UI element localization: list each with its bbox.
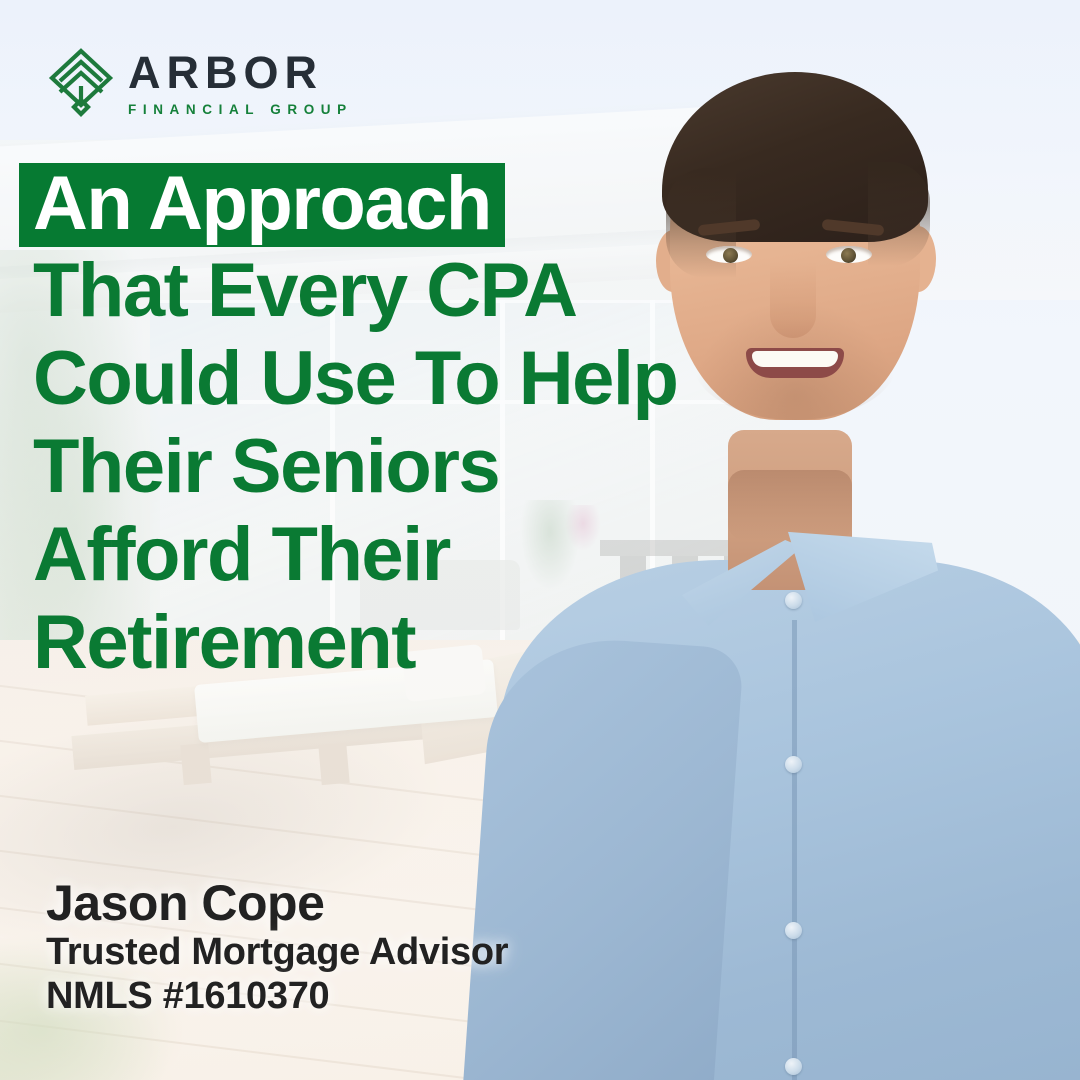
headline-line-4: Their Seniors bbox=[33, 423, 733, 511]
shirt-button bbox=[785, 1058, 802, 1075]
smiling-mouth bbox=[746, 348, 844, 378]
advisor-signature-block: Jason Cope Trusted Mortgage Advisor NMLS… bbox=[46, 876, 508, 1018]
headline-line-3: Could Use To Help bbox=[33, 335, 733, 423]
neck-shadow bbox=[728, 470, 852, 540]
advisor-role: Trusted Mortgage Advisor bbox=[46, 930, 508, 974]
brand-wordmark: ARBOR bbox=[128, 50, 353, 95]
iris-right bbox=[841, 248, 856, 263]
social-media-promo-card: ARBOR FINANCIAL GROUP An Approach That E… bbox=[0, 0, 1080, 1080]
headline-block: An Approach That Every CPA Could Use To … bbox=[33, 163, 733, 687]
brand-tagline: FINANCIAL GROUP bbox=[128, 103, 353, 117]
headline-line-6: Retirement bbox=[33, 599, 733, 687]
nose bbox=[770, 262, 816, 338]
brand-logo[interactable]: ARBOR FINANCIAL GROUP bbox=[48, 48, 353, 118]
teeth bbox=[752, 351, 838, 367]
advisor-nmls: NMLS #1610370 bbox=[46, 974, 508, 1018]
shirt-button bbox=[785, 756, 802, 773]
advisor-name: Jason Cope bbox=[46, 876, 508, 930]
shirt-button bbox=[785, 592, 802, 609]
arbor-diamond-chevron-logo-icon bbox=[48, 48, 114, 118]
shirt-placket bbox=[792, 620, 797, 1080]
headline-line-1: An Approach bbox=[19, 163, 505, 247]
shirt-button bbox=[785, 922, 802, 939]
headline-line-2: That Every CPA bbox=[33, 247, 733, 335]
hair-fade-right bbox=[868, 162, 930, 266]
headline-line-5: Afford Their bbox=[33, 511, 733, 599]
